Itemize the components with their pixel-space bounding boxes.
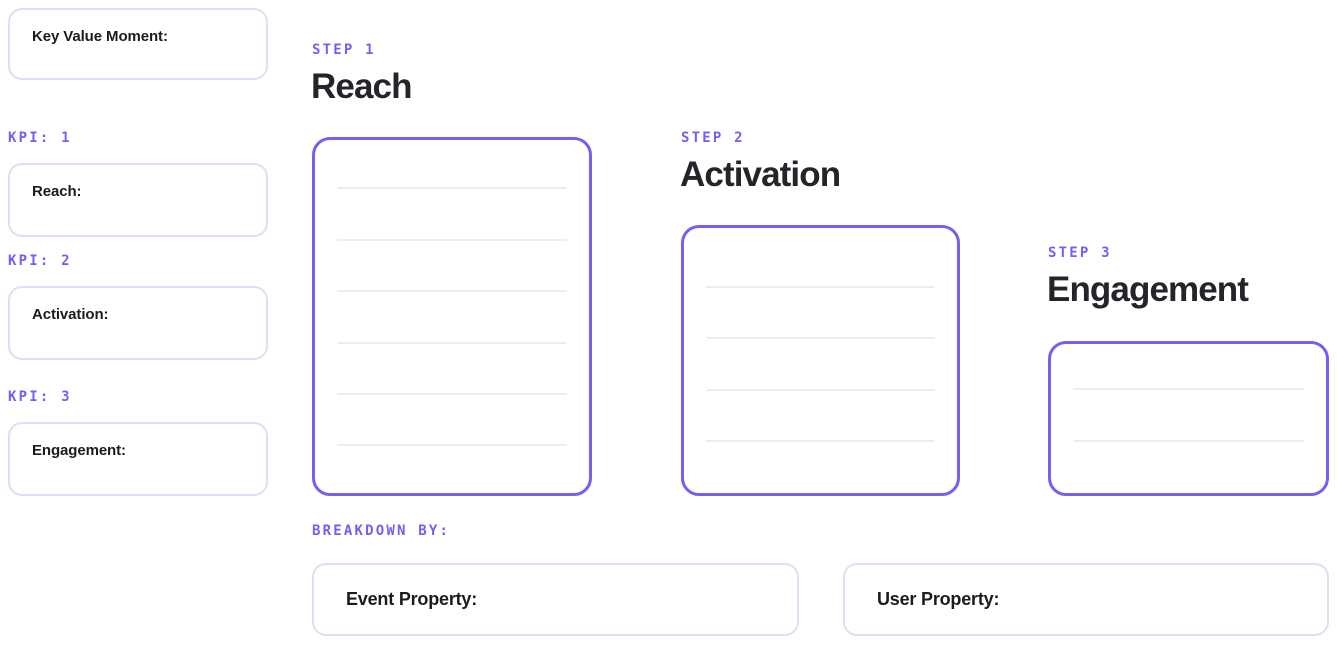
kpi-3-kicker: KPI: 3 (8, 390, 72, 404)
key-value-moment-box[interactable]: Key Value Moment: (8, 8, 268, 80)
rule-line (337, 239, 567, 241)
rule-line (337, 393, 567, 395)
step-2-notes-card[interactable] (681, 225, 960, 496)
rule-line (337, 444, 567, 446)
rule-line (1073, 388, 1304, 390)
kpi-1-box[interactable]: Reach: (8, 163, 268, 237)
kpi-3-box[interactable]: Engagement: (8, 422, 268, 496)
rule-line (706, 440, 935, 442)
worksheet-canvas: Key Value Moment: KPI: 1 Reach: KPI: 2 A… (0, 0, 1337, 646)
step-2-kicker: STEP 2 (681, 131, 745, 145)
step-2-title: Activation (680, 157, 840, 192)
rule-line (337, 342, 567, 344)
step-3-title: Engagement (1047, 272, 1248, 307)
rule-line (1073, 440, 1304, 442)
rule-line (337, 290, 567, 292)
rule-line (706, 286, 935, 288)
step-3-kicker: STEP 3 (1048, 246, 1112, 260)
kpi-2-label: Activation: (32, 306, 108, 324)
event-property-label: Event Property: (346, 589, 477, 611)
user-property-box[interactable]: User Property: (843, 563, 1329, 636)
kpi-1-label: Reach: (32, 183, 81, 201)
user-property-label: User Property: (877, 589, 999, 611)
step-1-kicker: STEP 1 (312, 43, 376, 57)
step-3-notes-card[interactable] (1048, 341, 1329, 496)
rule-line (337, 187, 567, 189)
rule-line (706, 389, 935, 391)
rule-line (706, 337, 935, 339)
key-value-moment-label: Key Value Moment: (32, 28, 168, 46)
kpi-3-label: Engagement: (32, 442, 126, 460)
kpi-1-kicker: KPI: 1 (8, 131, 72, 145)
step-1-notes-card[interactable] (312, 137, 592, 496)
kpi-2-box[interactable]: Activation: (8, 286, 268, 360)
breakdown-by-kicker: BREAKDOWN BY: (312, 524, 450, 538)
kpi-2-kicker: KPI: 2 (8, 254, 72, 268)
step-1-title: Reach (311, 69, 412, 104)
event-property-box[interactable]: Event Property: (312, 563, 799, 636)
